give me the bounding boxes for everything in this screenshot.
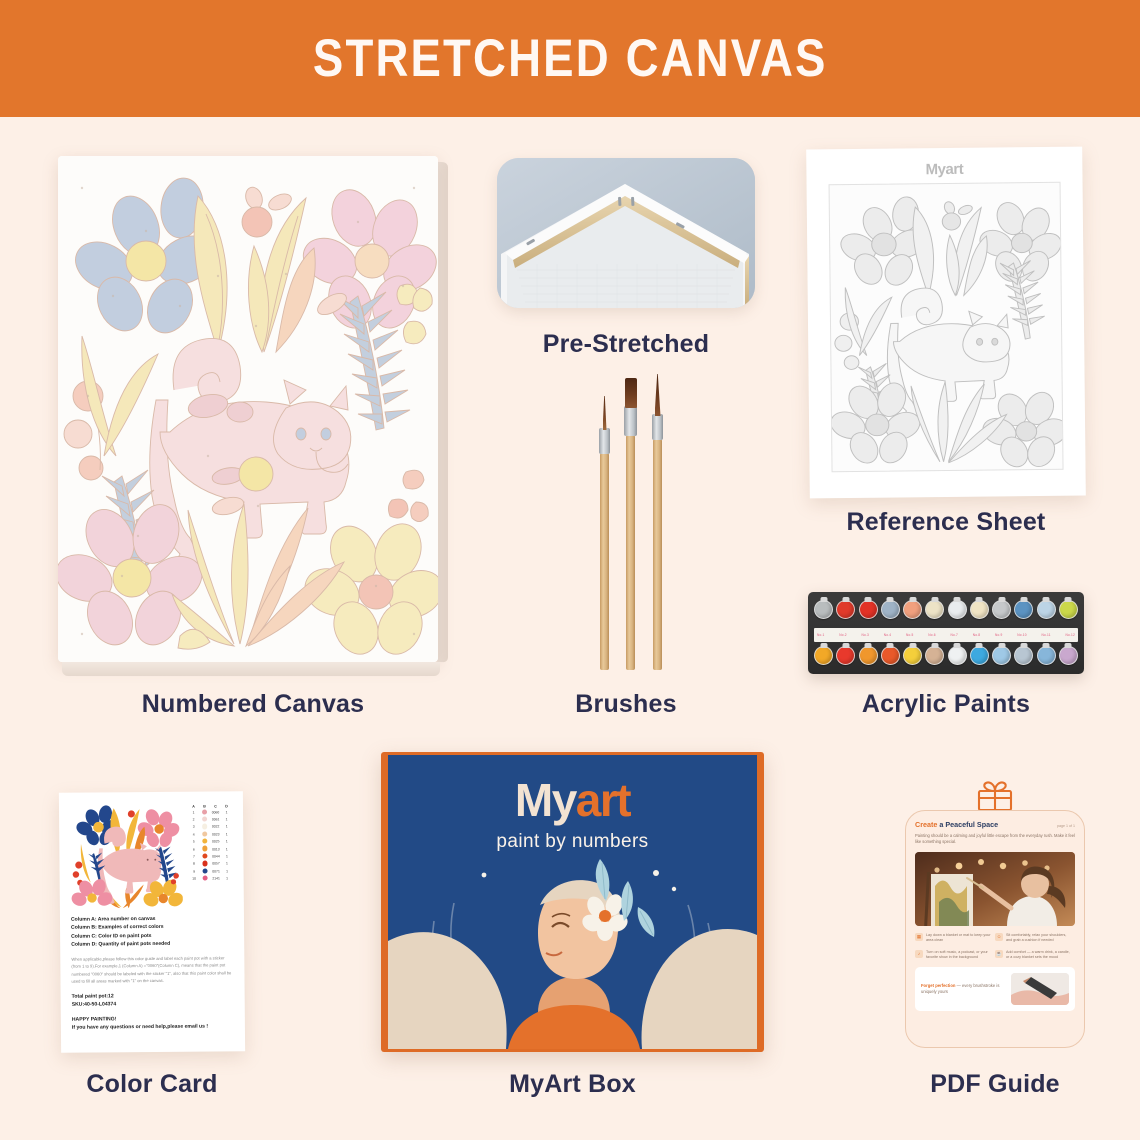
color-row-qty: 1	[221, 862, 232, 866]
paint-pot	[992, 600, 1011, 619]
paint-pot	[1059, 600, 1078, 619]
color-row-swatch	[199, 846, 210, 852]
paint-pot	[903, 646, 922, 665]
paint-pot	[836, 646, 855, 665]
paint-code-label: No.8	[973, 633, 981, 637]
pdf-tip-text: Add comfort — a warm drink, a candle, or…	[1006, 950, 1071, 961]
color-card-table: ABCD 10060120061130022140023150025160013…	[188, 801, 233, 909]
paint-pot	[970, 600, 989, 619]
paint-code-label: No.4	[884, 633, 892, 637]
paint-code-label: No.7	[951, 633, 959, 637]
color-row-code: 0060	[210, 810, 221, 814]
canvas-corner-illustration	[497, 158, 755, 308]
caption-color-card: Color Card	[50, 1070, 254, 1099]
color-row-swatch	[199, 853, 210, 859]
paint-code-label: No.6	[928, 633, 936, 637]
color-row-swatch	[199, 839, 210, 845]
canvas-artwork: .o{stroke:#D9B9A8;stroke-width:.9;} .dot…	[58, 156, 438, 662]
color-table-header-cell: B	[199, 804, 210, 808]
brush-liner	[600, 420, 609, 670]
pdf-quote-accent: Forget perfection	[921, 983, 955, 988]
pdf-tip-item: ☕Add comfort — a warm drink, a candle, o…	[995, 950, 1075, 961]
paint-pot	[925, 646, 944, 665]
color-row-code: 2141	[211, 877, 222, 881]
color-row-qty: 1	[222, 869, 233, 873]
color-row-swatch	[199, 809, 210, 815]
brush-handle	[653, 438, 662, 670]
legend-column-d: Column D: Quantity of paint pots needed	[71, 940, 233, 950]
color-row-code: 0023	[210, 832, 221, 836]
pdf-tip-text: Lay down a blanket or mat to keep your a…	[926, 933, 991, 944]
pdf-tip-text: Turn on soft music, a podcast, or your f…	[926, 950, 991, 961]
brush-ferrule	[624, 406, 637, 436]
color-row-swatch	[199, 831, 210, 837]
brush-handle	[626, 434, 635, 670]
paint-pot	[1037, 600, 1056, 619]
color-table-header-cell: A	[188, 805, 199, 809]
myart-tagline: paint by numbers	[388, 831, 757, 853]
brush-handle	[600, 452, 609, 670]
paint-pot	[859, 600, 878, 619]
sku-label: SKU:40-50-L04374	[72, 1000, 234, 1010]
logo-my: My	[515, 774, 576, 826]
paint-pot	[859, 646, 878, 665]
paint-code-label: No.12	[1065, 633, 1075, 637]
paint-code-label: No.2	[839, 633, 847, 637]
brush-ferrule	[599, 428, 610, 454]
caption-reference-sheet: Reference Sheet	[808, 508, 1084, 537]
paint-pot	[1037, 646, 1056, 665]
color-row-area: 8	[188, 862, 199, 866]
color-row-code: 0071	[211, 869, 222, 873]
paint-row-top	[814, 598, 1078, 628]
color-row-qty: 1	[221, 840, 232, 844]
brushes-group	[586, 385, 672, 670]
pdf-tip-icon: ▦	[915, 933, 923, 941]
color-table-row: 1021411	[189, 875, 233, 883]
pdf-quote-text: Forget perfection — every brushstroke is…	[921, 983, 1005, 995]
color-row-area: 1	[188, 810, 199, 814]
pdf-guide-title: Create a Peaceful Space	[915, 820, 998, 829]
color-row-swatch	[200, 876, 211, 882]
painting-scene-illustration	[915, 852, 1075, 926]
caption-numbered-canvas: Numbered Canvas	[58, 690, 448, 719]
pdf-tip-item: ♪Turn on soft music, a podcast, or your …	[915, 950, 995, 961]
numbered-canvas: .o{stroke:#D9B9A8;stroke-width:.9;} .dot…	[58, 156, 448, 668]
color-row-qty: 1	[221, 810, 232, 814]
color-row-code: 0022	[210, 825, 221, 829]
color-row-qty: 1	[221, 825, 232, 829]
paint-pot	[1059, 646, 1078, 665]
pre-stretched-photo	[497, 158, 755, 308]
paint-pot	[948, 600, 967, 619]
reference-sheet-logo: Myart	[806, 160, 1082, 180]
reference-sheet-artwork	[829, 182, 1064, 472]
color-row-area: 5	[188, 840, 199, 844]
color-card-instructions: When applicable,please follow this color…	[71, 954, 233, 986]
pdf-tip-text: Sit comfortably, relax your shoulders, a…	[1006, 933, 1071, 944]
paint-code-label: No.9	[995, 633, 1003, 637]
pdf-quote-image	[1011, 973, 1069, 1005]
brush-ferrule	[652, 414, 663, 440]
paint-pot	[1014, 646, 1033, 665]
color-row-area: 6	[188, 847, 199, 851]
canvas-face: .o{stroke:#D9B9A8;stroke-width:.9;} .dot…	[58, 156, 438, 662]
caption-acrylic-paints: Acrylic Paints	[808, 690, 1084, 719]
pdf-tip-item: ☺Sit comfortably, relax your shoulders, …	[995, 933, 1075, 944]
brush-bristle	[603, 396, 607, 430]
pdf-title-accent: Create	[915, 820, 937, 829]
paint-code-label: No.10	[1017, 633, 1027, 637]
pdf-tip-icon: ☕	[995, 950, 1003, 958]
color-row-area: 2	[188, 818, 199, 822]
color-card-artwork	[70, 802, 183, 909]
color-row-area: 4	[188, 832, 199, 836]
pdf-guide: Create a Peaceful Space page 1 of 1 Pain…	[905, 778, 1085, 1048]
color-row-area: 9	[189, 869, 200, 873]
paint-pot	[881, 600, 900, 619]
color-card-art-svg	[70, 802, 183, 909]
paint-pot	[836, 600, 855, 619]
paint-code-label: No.11	[1041, 633, 1050, 637]
logo-art: art	[576, 774, 630, 826]
pdf-tip-icon: ♪	[915, 950, 923, 958]
color-row-area: 3	[188, 825, 199, 829]
paint-row-bottom	[814, 644, 1078, 674]
paint-pot	[925, 600, 944, 619]
page-header: STRETCHED CANVAS	[0, 0, 1140, 117]
color-row-code: 0057	[210, 862, 221, 866]
paint-pot	[881, 646, 900, 665]
color-row-area: 7	[188, 855, 199, 859]
myart-box: Myart paint by numbers	[381, 752, 764, 1052]
brush-bristle	[625, 378, 637, 408]
pdf-tip-icon: ☺	[995, 933, 1003, 941]
color-card-legend: Column A: Area number on canvas Column B…	[71, 914, 233, 949]
reference-sheet: Myart	[806, 147, 1086, 499]
pdf-tip-item: ▦Lay down a blanket or mat to keep your …	[915, 933, 995, 944]
color-table-header-cell: D	[221, 804, 232, 808]
color-row-qty: 1	[221, 854, 232, 858]
paint-code-label: No.3	[862, 633, 870, 637]
color-table-body: 1006012006113002214002315002516001317004…	[188, 808, 233, 882]
color-row-area: 10	[189, 877, 200, 881]
pdf-guide-body: Painting should be a calming and joyful …	[915, 833, 1075, 846]
acrylic-paints-tray: No.1No.2No.3No.4No.5No.6No.7No.8No.9No.1…	[808, 592, 1084, 674]
color-row-qty: 1	[221, 847, 232, 851]
color-row-qty: 1	[221, 832, 232, 836]
color-row-qty: 1	[222, 876, 233, 880]
myart-box-face: Myart paint by numbers	[388, 755, 757, 1049]
pdf-guide-header: Create a Peaceful Space page 1 of 1	[915, 820, 1075, 829]
color-row-qty: 1	[221, 817, 232, 821]
pdf-guide-photo	[915, 852, 1075, 926]
myart-logo: Myart	[388, 773, 757, 827]
canvas-bottom-edge	[62, 662, 440, 676]
reference-artwork-svg	[830, 183, 1064, 472]
caption-pre-stretched: Pre-Stretched	[497, 330, 755, 359]
brush-bristle	[655, 374, 661, 416]
pdf-page-label: page 1 of 1	[1057, 824, 1075, 828]
color-row-code: 0044	[210, 854, 221, 858]
paint-pot	[1014, 600, 1033, 619]
color-row-swatch	[199, 824, 210, 830]
paint-pot	[970, 646, 989, 665]
paint-pot	[948, 646, 967, 665]
color-row-code: 0061	[210, 817, 221, 821]
pdf-guide-tablet: Create a Peaceful Space page 1 of 1 Pain…	[905, 810, 1085, 1048]
brushstroke-illustration	[1011, 973, 1069, 1005]
caption-brushes: Brushes	[497, 690, 755, 719]
color-row-code: 0025	[210, 840, 221, 844]
pdf-guide-tips: ▦Lay down a blanket or mat to keep your …	[915, 933, 1075, 967]
pdf-guide-quote: Forget perfection — every brushstroke is…	[915, 967, 1075, 1011]
brush-round	[653, 398, 662, 670]
brush-flat	[626, 385, 635, 670]
caption-pdf-guide: PDF Guide	[890, 1070, 1100, 1099]
color-row-swatch	[200, 868, 211, 874]
caption-myart-box: MyArt Box	[381, 1070, 764, 1099]
paint-label-strip: No.1No.2No.3No.4No.5No.6No.7No.8No.9No.1…	[814, 628, 1078, 642]
paint-pot	[903, 600, 922, 619]
page-title: STRETCHED CANVAS	[313, 28, 828, 89]
paint-pot	[992, 646, 1011, 665]
color-row-swatch	[199, 816, 210, 822]
paint-code-label: No.1	[817, 633, 825, 637]
color-card-top: ABCD 10060120061130022140023150025160013…	[70, 801, 233, 910]
pdf-title-rest: a Peaceful Space	[937, 820, 998, 829]
contact-label: If you have any questions or need help,p…	[72, 1023, 234, 1033]
color-row-code: 0013	[210, 847, 221, 851]
paint-pot	[814, 600, 833, 619]
paint-pot	[814, 646, 833, 665]
color-table-header-cell: C	[210, 804, 221, 808]
color-card: ABCD 10060120061130022140023150025160013…	[59, 791, 245, 1053]
color-row-swatch	[199, 861, 210, 867]
paint-code-label: No.5	[906, 633, 914, 637]
